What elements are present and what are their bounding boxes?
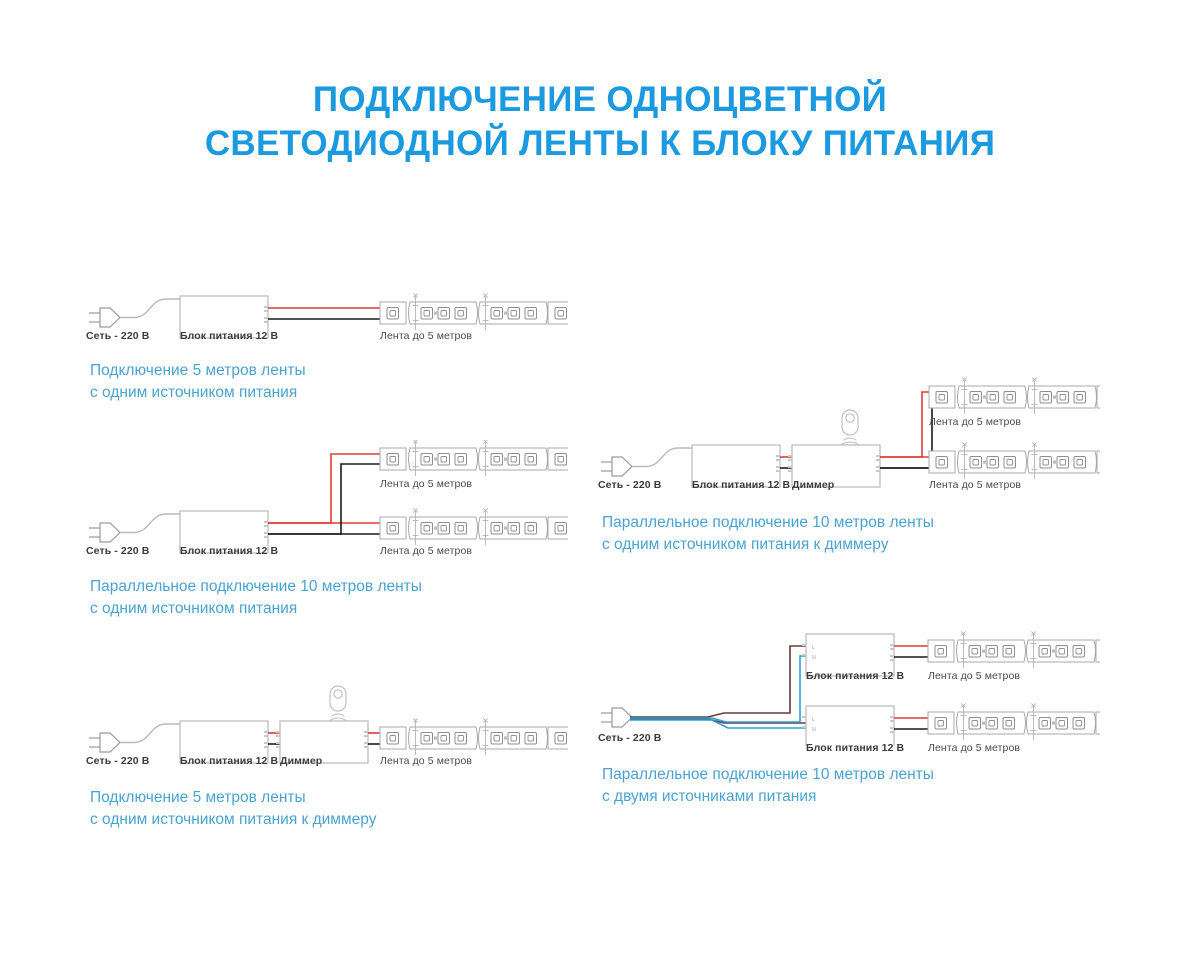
mains-plug-icon	[89, 308, 120, 327]
led-strip-2	[929, 443, 1100, 480]
scheme-2-caption-line-2: с одним источником питания	[90, 598, 297, 620]
psu-terminal-n-bottom: N	[812, 727, 816, 733]
remote-control-icon	[842, 410, 858, 435]
page-title-line-1: ПОДКЛЮЧЕНИЕ ОДНОЦВЕТНОЙ	[0, 78, 1200, 122]
scheme-3-caption-line-2: с одним источником питания к диммеру	[90, 809, 376, 831]
psu-terminal-n-top: N	[812, 655, 816, 661]
psu-terminal-l-top: L	[812, 645, 815, 651]
wire-negative-up	[880, 402, 932, 468]
scheme-4-caption-line-1: Параллельное подключение 10 метров ленты	[602, 512, 934, 534]
scheme-4-caption-line-2: с одним источником питания к диммеру	[602, 534, 888, 556]
led-strip-1	[929, 378, 1100, 415]
led-strip-1	[380, 294, 568, 331]
scheme-3: Сеть - 220 В Блок питания 12 В Диммер Ле…	[88, 680, 568, 772]
label-strip: Лента до 5 метров	[380, 330, 472, 342]
led-strip-2	[380, 509, 568, 546]
mains-plug-icon	[601, 457, 632, 476]
label-mains: Сеть - 220 В	[598, 479, 661, 491]
scheme-5: L N L N	[600, 618, 1100, 746]
label-mains: Сеть - 220 В	[86, 545, 149, 557]
mains-plug-icon	[601, 708, 632, 727]
wire-line-brown-upper	[630, 646, 806, 717]
led-strip-1	[380, 440, 568, 476]
led-strip-2	[928, 704, 1100, 741]
page-title: ПОДКЛЮЧЕНИЕ ОДНОЦВЕТНОЙ СВЕТОДИОДНОЙ ЛЕН…	[0, 78, 1200, 166]
remote-control-icon	[330, 686, 346, 711]
scheme-5-drawing: L N L N	[600, 618, 1100, 746]
scheme-1: Сеть - 220 В Блок питания 12 В Лента до …	[88, 286, 568, 342]
label-strip-2: Лента до 5 метров	[929, 479, 1021, 491]
scheme-3-drawing	[88, 680, 568, 772]
page-title-line-2: СВЕТОДИОДНОЙ ЛЕНТЫ К БЛОКУ ПИТАНИЯ	[0, 122, 1200, 166]
scheme-5-caption-line-2: с двумя источниками питания	[602, 786, 816, 808]
scheme-5-caption-line-1: Параллельное подключение 10 метров ленты	[602, 764, 934, 786]
label-psu: Блок питания 12 В	[180, 545, 278, 557]
label-strip-2: Лента до 5 метров	[380, 545, 472, 557]
scheme-4-drawing	[600, 372, 1100, 494]
label-psu-bottom: Блок питания 12 В	[806, 742, 904, 754]
label-strip-1: Лента до 5 метров	[929, 416, 1021, 428]
scheme-2-drawing	[88, 440, 568, 560]
label-mains: Сеть - 220 В	[86, 330, 149, 342]
label-psu: Блок питания 12 В	[180, 330, 278, 342]
scheme-1-caption-line-2: с одним источником питания	[90, 382, 297, 404]
scheme-1-caption-line-1: Подключение 5 метров ленты	[90, 360, 306, 382]
wire-positive-up	[880, 392, 930, 457]
scheme-4: Лента до 5 метров Сеть - 220 В Блок пита…	[600, 372, 1100, 494]
scheme-2-caption-line-1: Параллельное подключение 10 метров ленты	[90, 576, 422, 598]
scheme-3-caption-line-1: Подключение 5 метров ленты	[90, 787, 306, 809]
label-psu: Блок питания 12 В	[692, 479, 790, 491]
label-strip: Лента до 5 метров	[380, 755, 472, 767]
label-mains: Сеть - 220 В	[598, 732, 661, 744]
scheme-2: Лента до 5 метров Сеть - 220 В Блок пита…	[88, 440, 568, 560]
mains-plug-icon	[89, 523, 120, 542]
label-psu-top: Блок питания 12 В	[806, 670, 904, 682]
led-strip-1	[928, 632, 1100, 669]
label-strip-2: Лента до 5 метров	[928, 742, 1020, 754]
wire-neutral-blue-upper	[630, 656, 806, 722]
label-mains: Сеть - 220 В	[86, 755, 149, 767]
label-strip-1: Лента до 5 метров	[380, 478, 472, 490]
label-dimmer: Диммер	[280, 755, 322, 767]
label-strip-1: Лента до 5 метров	[928, 670, 1020, 682]
label-dimmer: Диммер	[792, 479, 834, 491]
psu-terminal-l-bottom: L	[812, 717, 815, 723]
psu-box-bottom	[806, 706, 894, 746]
label-psu: Блок питания 12 В	[180, 755, 278, 767]
led-strip-1	[380, 719, 568, 756]
mains-plug-icon	[89, 733, 120, 752]
scheme-1-drawing	[88, 286, 568, 342]
